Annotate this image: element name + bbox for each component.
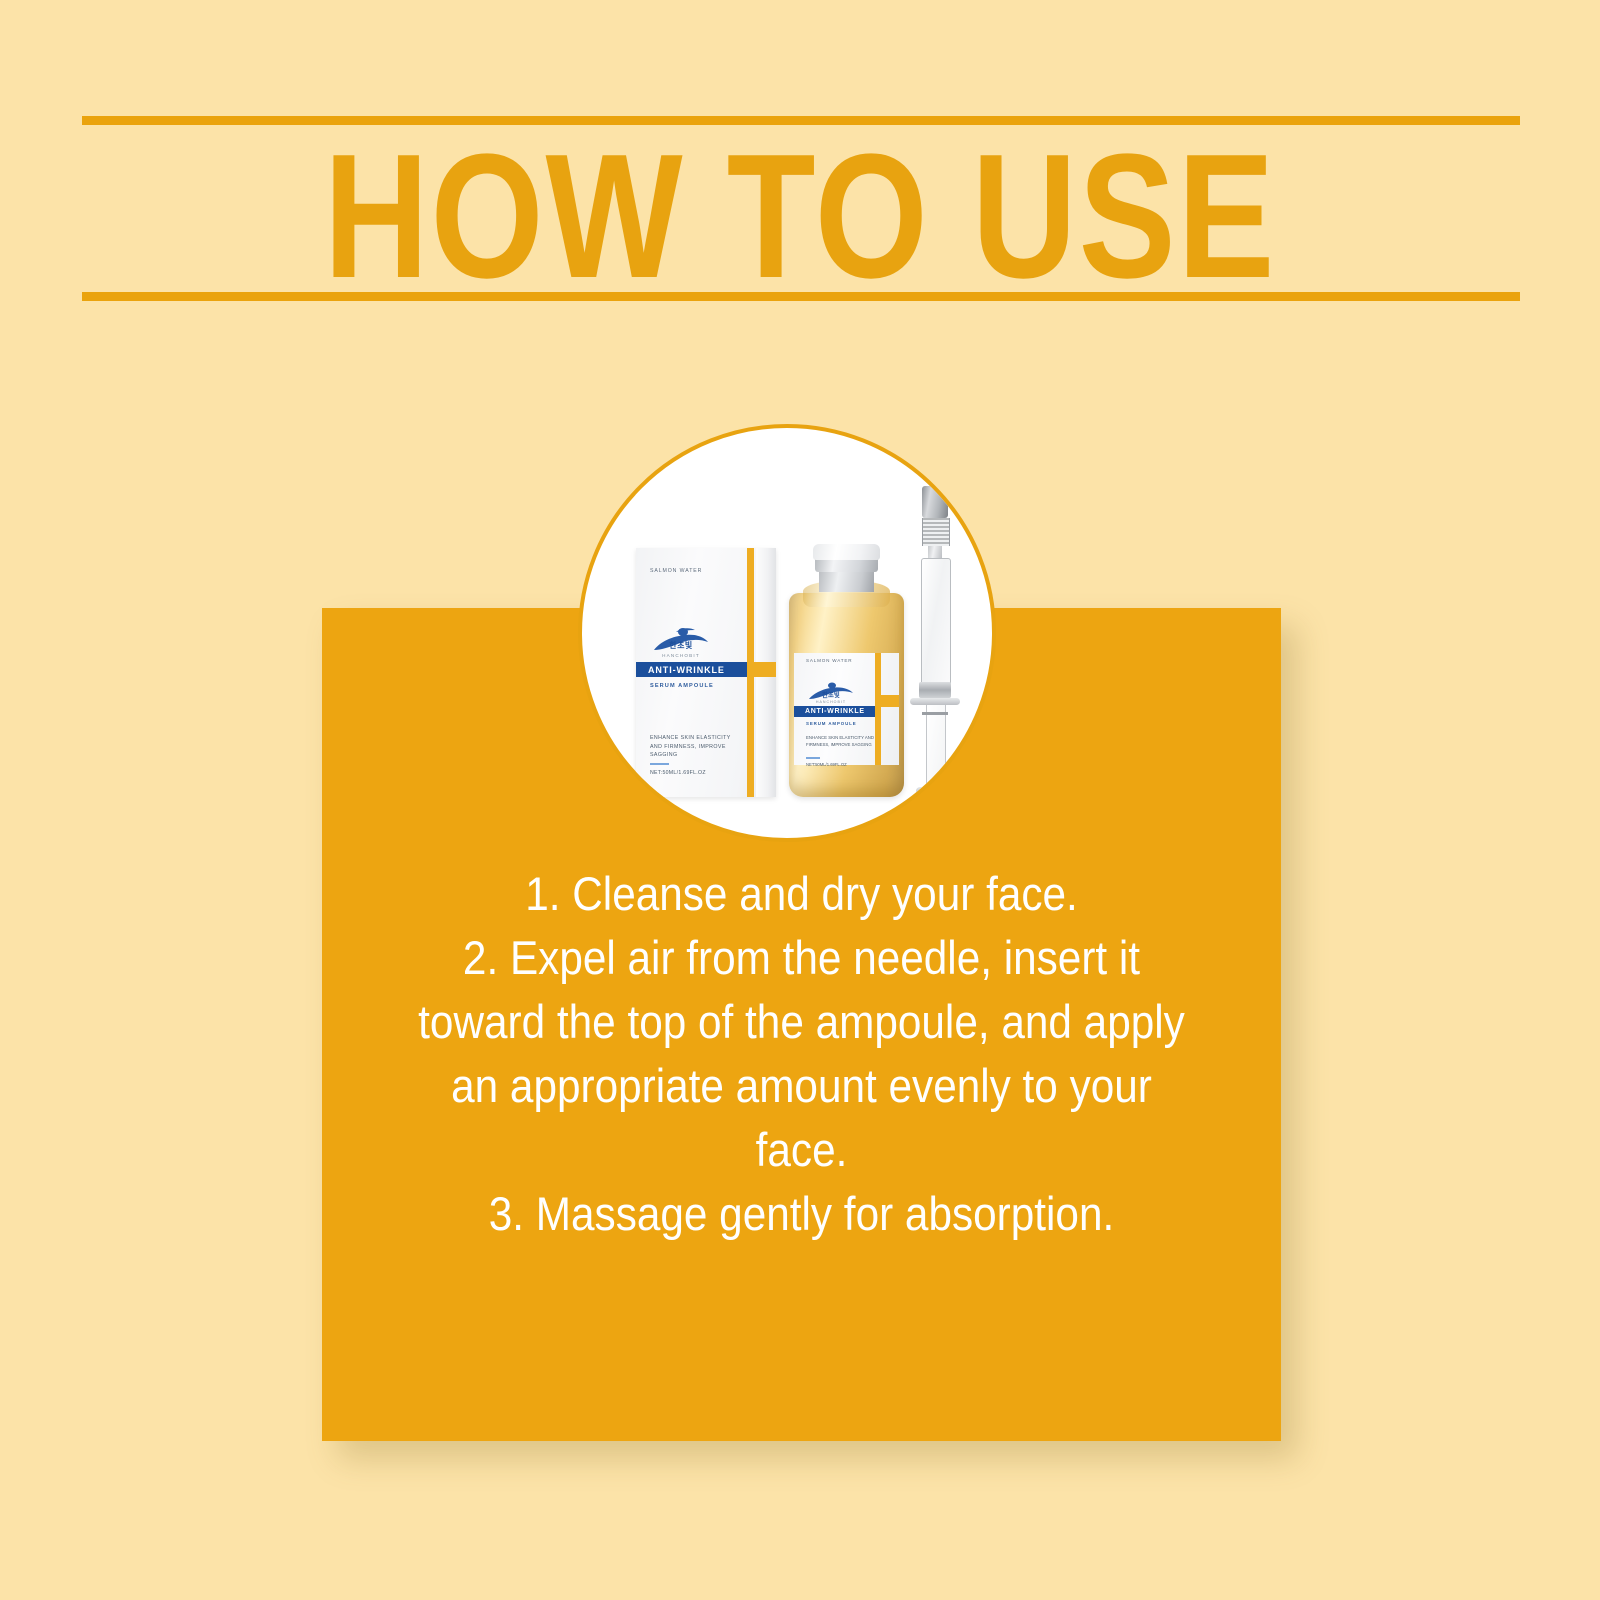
- syringe-hub-tip: [928, 546, 942, 558]
- carton-divider: [650, 763, 669, 765]
- bottle-net-content: NET:50ML/1.69FL.OZ: [806, 762, 847, 767]
- header-rule-bottom: [82, 292, 1520, 301]
- carton-net-content: NET:50ML/1.69FL.OZ: [650, 770, 745, 776]
- bottle-product-name: ANTI-WRINKLE: [805, 708, 865, 715]
- syringe-barrel: [921, 558, 951, 688]
- bottle-brand-en: HANCHOBIT: [806, 700, 856, 704]
- product-image-circle: SALMON WATER 한초빛 HANCHOBIT ANTI-WRINKLE …: [578, 424, 996, 842]
- syringe-needle-cap: [922, 486, 948, 518]
- syringe-hub-rings: [922, 518, 950, 546]
- product-syringe: [908, 486, 962, 798]
- bottle-cap: [813, 544, 880, 560]
- page-title: HOW TO USE: [64, 128, 1536, 305]
- bottle-brand-kr: 한초빛: [806, 690, 856, 699]
- bottle-product-type: SERUM AMPOULE: [806, 721, 857, 726]
- instruction-line: 2. Expel air from the needle, insert it: [370, 926, 1233, 990]
- carton-claims: ENHANCE SKIN ELASTICITY AND FIRMNESS, IM…: [650, 734, 742, 760]
- carton-top-line: SALMON WATER: [650, 568, 745, 574]
- carton-brand-en: HANCHOBIT: [650, 653, 712, 658]
- instruction-line: 1. Cleanse and dry your face.: [370, 862, 1233, 926]
- instruction-line: toward the top of the ampoule, and apply: [370, 990, 1233, 1054]
- carton-product-name: ANTI-WRINKLE: [648, 665, 725, 675]
- syringe-thumb-rest: [916, 787, 954, 795]
- product-carton-box: SALMON WATER 한초빛 HANCHOBIT ANTI-WRINKLE …: [636, 548, 776, 797]
- instruction-line: 3. Massage gently for absorption.: [370, 1182, 1233, 1246]
- syringe-plunger-rod: [926, 705, 946, 787]
- syringe-finger-flange: [910, 698, 960, 705]
- carton-stripe-horizontal: [747, 662, 776, 677]
- bottle-stripe-horizontal: [875, 695, 899, 707]
- bottle-claims: ENHANCE SKIN ELASTICITY AND FIRMNESS, IM…: [806, 735, 880, 748]
- instruction-list: 1. Cleanse and dry your face. 2. Expel a…: [370, 862, 1233, 1246]
- product-bottle: SALMON WATER 한초빛 HANCHOBIT ANTI-WRINKLE …: [789, 544, 904, 797]
- bottle-top-line: SALMON WATER: [806, 658, 852, 663]
- instruction-line: an appropriate amount evenly to your: [370, 1054, 1233, 1118]
- syringe-plunger-head: [919, 682, 951, 698]
- bottle-divider: [806, 757, 820, 759]
- carton-product-type: SERUM AMPOULE: [650, 683, 714, 689]
- syringe-rod-crossbar: [922, 712, 948, 715]
- carton-brand-kr: 한초빛: [650, 640, 712, 651]
- product-scene: SALMON WATER 한초빛 HANCHOBIT ANTI-WRINKLE …: [582, 428, 996, 842]
- bottle-label: SALMON WATER 한초빛 HANCHOBIT ANTI-WRINKLE …: [794, 653, 899, 765]
- instruction-line: face.: [370, 1118, 1233, 1182]
- bottle-stripe-vertical: [875, 653, 881, 765]
- header-section: HOW TO USE: [0, 0, 1600, 330]
